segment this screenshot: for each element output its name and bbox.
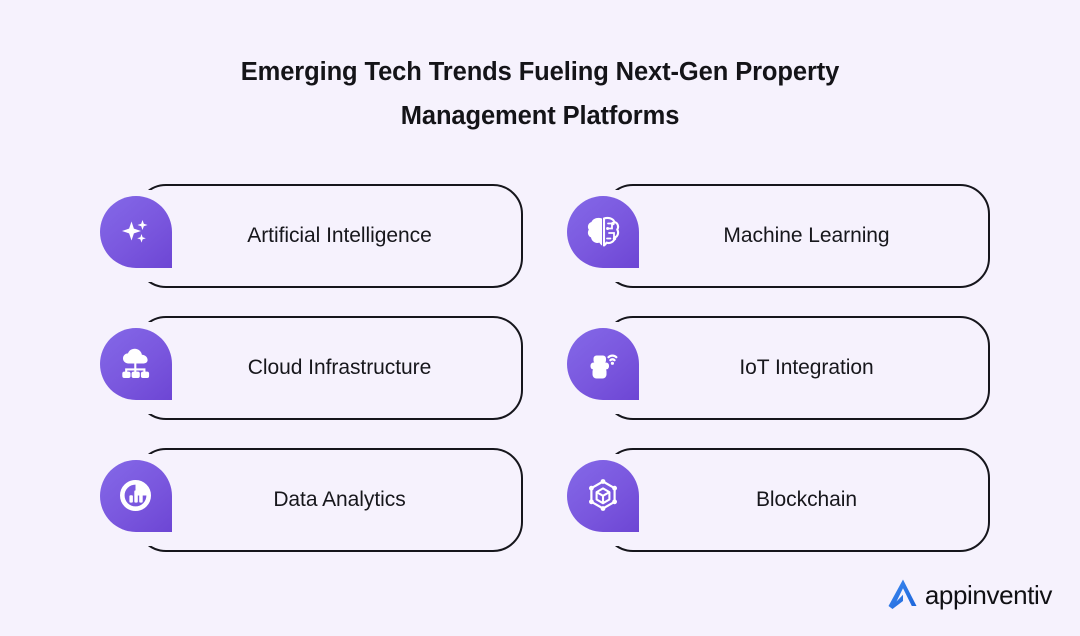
infographic-page: Emerging Tech Trends Fueling Next-Gen Pr…: [0, 0, 1080, 636]
tech-trend-card[interactable]: Cloud Infrastructure: [96, 308, 523, 412]
page-title: Emerging Tech Trends Fueling Next-Gen Pr…: [0, 50, 1080, 138]
card-outline: [136, 184, 523, 288]
donut-bar-chart-icon: [100, 460, 172, 532]
page-title-line-2: Management Platforms: [0, 94, 1080, 138]
tech-trend-card[interactable]: Data Analytics: [96, 440, 523, 544]
card-outline: [136, 316, 523, 420]
cloud-network-icon: [100, 328, 172, 400]
card-outline: [603, 316, 990, 420]
hexagon-cube-icon: [567, 460, 639, 532]
tech-trend-card-grid: Artificial Intelligence: [96, 176, 996, 544]
tech-trend-card[interactable]: Blockchain: [563, 440, 990, 544]
card-outline: [136, 448, 523, 552]
tech-trend-card[interactable]: IoT Integration: [563, 308, 990, 412]
appinventiv-a-mark-icon: [886, 577, 920, 614]
appinventiv-logo: appinventiv: [886, 577, 1052, 614]
iot-device-wifi-icon: [567, 328, 639, 400]
card-outline: [603, 184, 990, 288]
tech-trend-card[interactable]: Machine Learning: [563, 176, 990, 280]
tech-trend-card[interactable]: Artificial Intelligence: [96, 176, 523, 280]
brain-circuit-icon: [567, 196, 639, 268]
sparkles-icon: [100, 196, 172, 268]
page-title-line-1: Emerging Tech Trends Fueling Next-Gen Pr…: [0, 50, 1080, 94]
appinventiv-logo-text: appinventiv: [925, 580, 1052, 611]
card-outline: [603, 448, 990, 552]
